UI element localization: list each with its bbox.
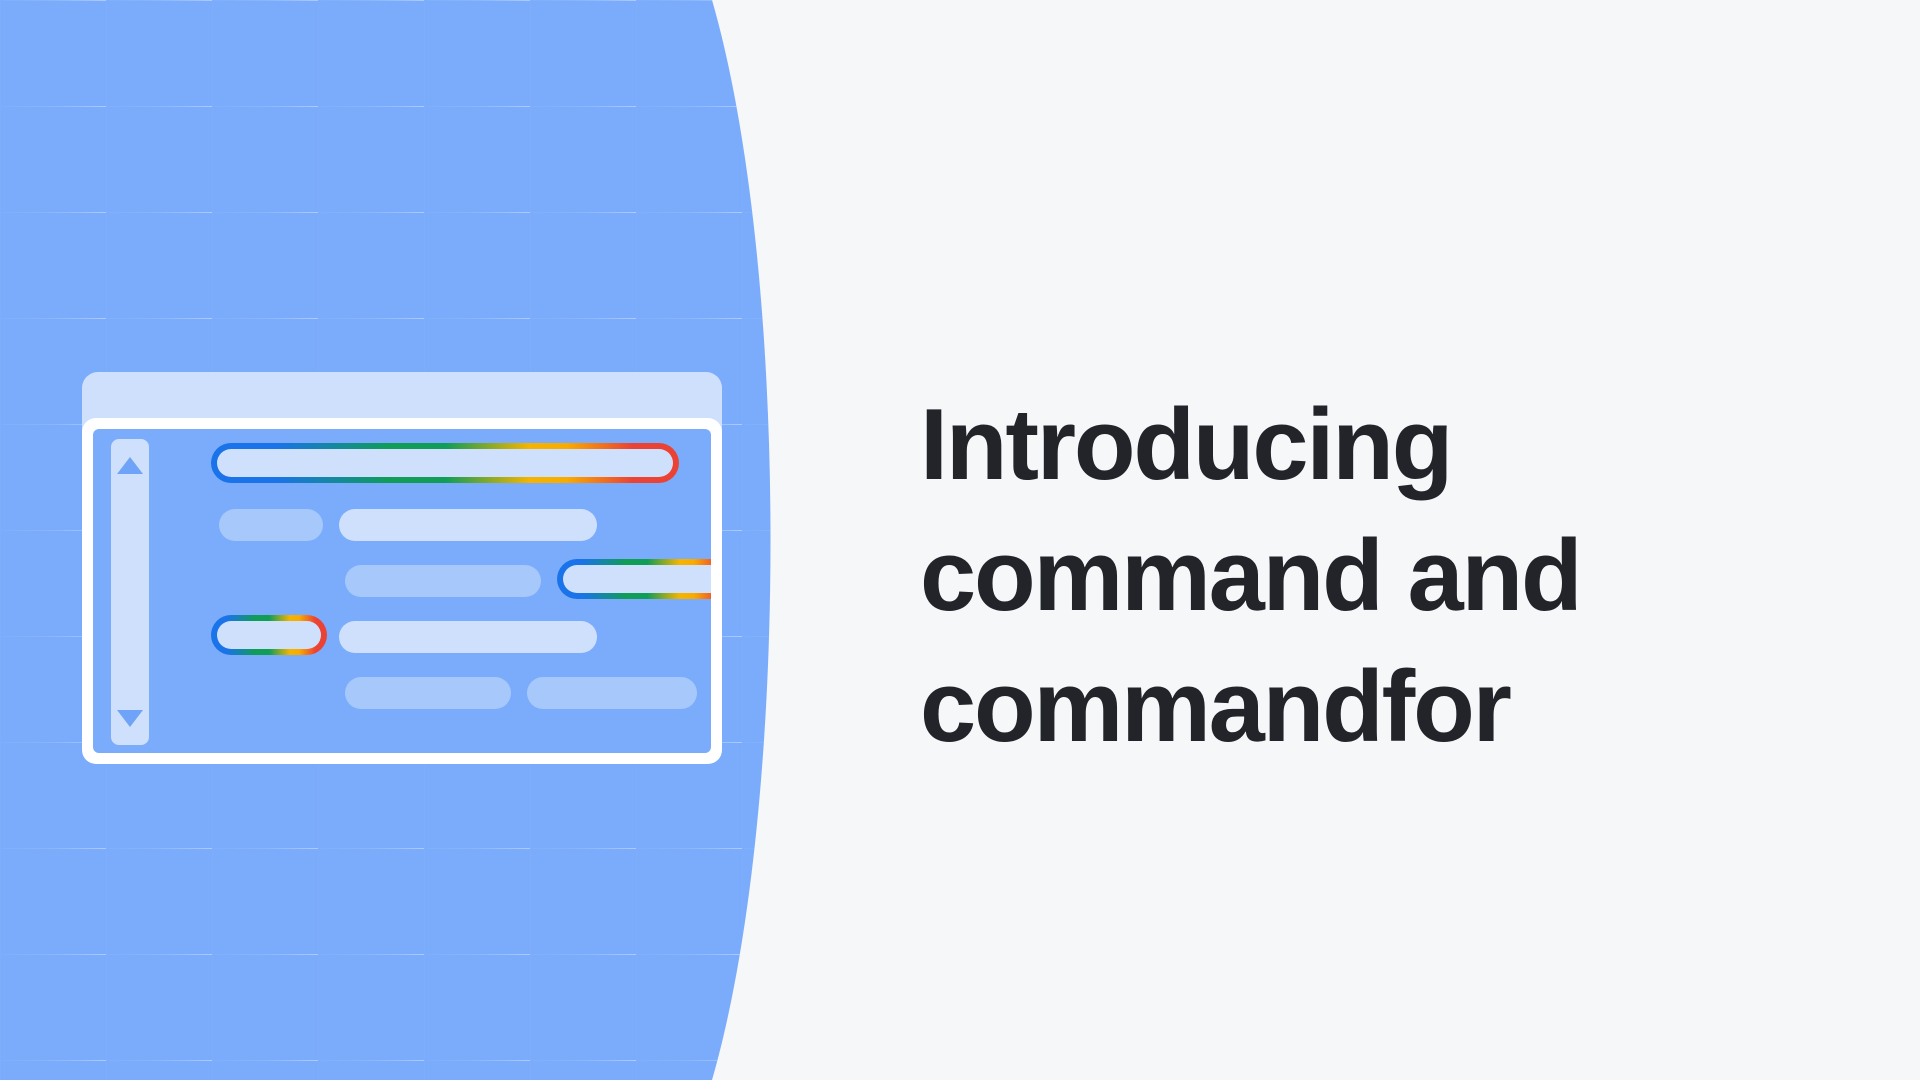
pill-placeholder-mid-2 — [345, 677, 511, 709]
page-title: Introducing command and commandfor — [920, 380, 1820, 773]
title-line-1: Introducing — [920, 380, 1820, 511]
pill-placeholder-mid-3 — [527, 677, 697, 709]
pill-placeholder-long-2 — [339, 621, 597, 653]
pill-placeholder-mid — [345, 565, 541, 597]
pill-gradient-wide[interactable] — [211, 443, 679, 483]
pill-placeholder-long — [339, 509, 597, 541]
window-content-area — [93, 429, 711, 753]
pill-gradient-right[interactable] — [557, 559, 711, 599]
title-line-2: command and — [920, 511, 1820, 642]
pill-inner-fill — [217, 449, 673, 477]
scroll-down-arrow-icon[interactable] — [117, 710, 143, 727]
vertical-scrollbar[interactable] — [111, 439, 149, 745]
pill-gradient-small[interactable] — [211, 615, 327, 655]
pill-placeholder-short — [219, 509, 323, 541]
browser-window-mockup — [82, 372, 722, 764]
page-root: Introducing command and commandfor — [0, 0, 1920, 1080]
scroll-up-arrow-icon[interactable] — [117, 457, 143, 474]
title-line-3: commandfor — [920, 642, 1820, 773]
pill-inner-fill — [563, 565, 711, 593]
pill-inner-fill — [217, 621, 321, 649]
